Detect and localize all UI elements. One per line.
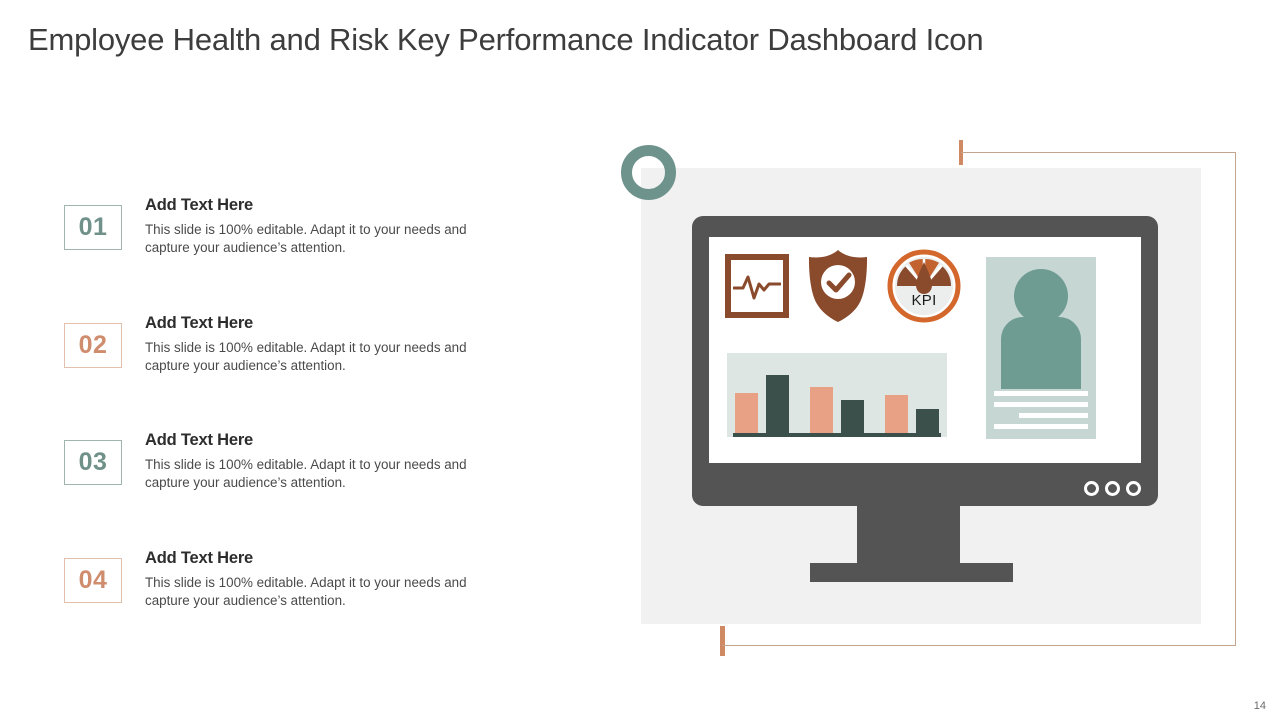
list-item-heading: Add Text Here xyxy=(145,549,505,569)
number-badge-label: 03 xyxy=(79,450,108,475)
indicator-dot-icon xyxy=(1105,481,1120,496)
dashboard-illustration: KPI xyxy=(600,120,1260,680)
list-item-body: This slide is 100% editable. Adapt it to… xyxy=(145,339,505,376)
monitor-indicator-dots xyxy=(1084,481,1141,496)
bracket-right-line xyxy=(1235,152,1236,646)
number-badge-02: 02 xyxy=(64,323,122,368)
number-badge-03: 03 xyxy=(64,440,122,485)
pulse-waveform-icon xyxy=(733,271,781,301)
ring-decoration-icon xyxy=(621,145,676,200)
monitor-screen: KPI xyxy=(709,237,1141,463)
number-badge-04: 04 xyxy=(64,558,122,603)
page-number: 14 xyxy=(1254,700,1266,712)
kpi-gauge-label: KPI xyxy=(887,292,961,309)
list-item-body: This slide is 100% editable. Adapt it to… xyxy=(145,574,505,611)
list-item-body: This slide is 100% editable. Adapt it to… xyxy=(145,221,505,258)
list-item[interactable]: 02 Add Text Here This slide is 100% edit… xyxy=(64,314,534,376)
bar xyxy=(916,409,939,433)
bracket-bottom-line xyxy=(722,645,1236,646)
list-item-heading: Add Text Here xyxy=(145,431,505,451)
bar xyxy=(841,400,864,433)
bar xyxy=(810,387,833,433)
profile-text-line xyxy=(1019,413,1088,418)
profile-text-line xyxy=(994,424,1088,429)
list-item-heading: Add Text Here xyxy=(145,196,505,216)
list-item-text: Add Text Here This slide is 100% editabl… xyxy=(145,196,505,258)
kpi-icon-row: KPI xyxy=(725,249,961,323)
number-badge-label: 02 xyxy=(79,333,108,358)
shield-check-icon xyxy=(807,249,869,323)
monitor-stand-base xyxy=(810,563,1013,582)
list-item[interactable]: 01 Add Text Here This slide is 100% edit… xyxy=(64,196,534,258)
list-item-text: Add Text Here This slide is 100% editabl… xyxy=(145,549,505,611)
list-item-heading: Add Text Here xyxy=(145,314,505,334)
bar-chart xyxy=(727,353,947,437)
list-item-body: This slide is 100% editable. Adapt it to… xyxy=(145,456,505,493)
number-badge-label: 01 xyxy=(79,215,108,240)
number-badge-label: 04 xyxy=(79,568,108,593)
bar xyxy=(735,393,758,433)
bar-chart-bars xyxy=(735,357,939,433)
avatar-head xyxy=(1014,269,1068,323)
pulse-monitor-icon xyxy=(725,254,789,318)
employee-profile-card xyxy=(986,257,1096,439)
bracket-top-line xyxy=(961,152,1236,153)
profile-text-line xyxy=(994,391,1088,396)
bar xyxy=(885,395,908,433)
number-badge-01: 01 xyxy=(64,205,122,250)
bar xyxy=(766,375,789,433)
indicator-dot-icon xyxy=(1084,481,1099,496)
list-item-text: Add Text Here This slide is 100% editabl… xyxy=(145,314,505,376)
indicator-dot-icon xyxy=(1126,481,1141,496)
list-item[interactable]: 03 Add Text Here This slide is 100% edit… xyxy=(64,431,534,493)
bracket-bottom-tick xyxy=(720,626,725,656)
kpi-gauge-graphic xyxy=(887,249,961,323)
monitor-frame: KPI xyxy=(692,216,1158,506)
monitor-stand-neck xyxy=(857,506,960,568)
profile-text-line xyxy=(994,402,1088,407)
list-item[interactable]: 04 Add Text Here This slide is 100% edit… xyxy=(64,549,534,611)
kpi-gauge-icon: KPI xyxy=(887,249,961,323)
list-item-text: Add Text Here This slide is 100% editabl… xyxy=(145,431,505,493)
avatar-body xyxy=(1001,317,1081,389)
feature-list: 01 Add Text Here This slide is 100% edit… xyxy=(0,0,560,720)
bar-chart-baseline xyxy=(733,433,941,437)
